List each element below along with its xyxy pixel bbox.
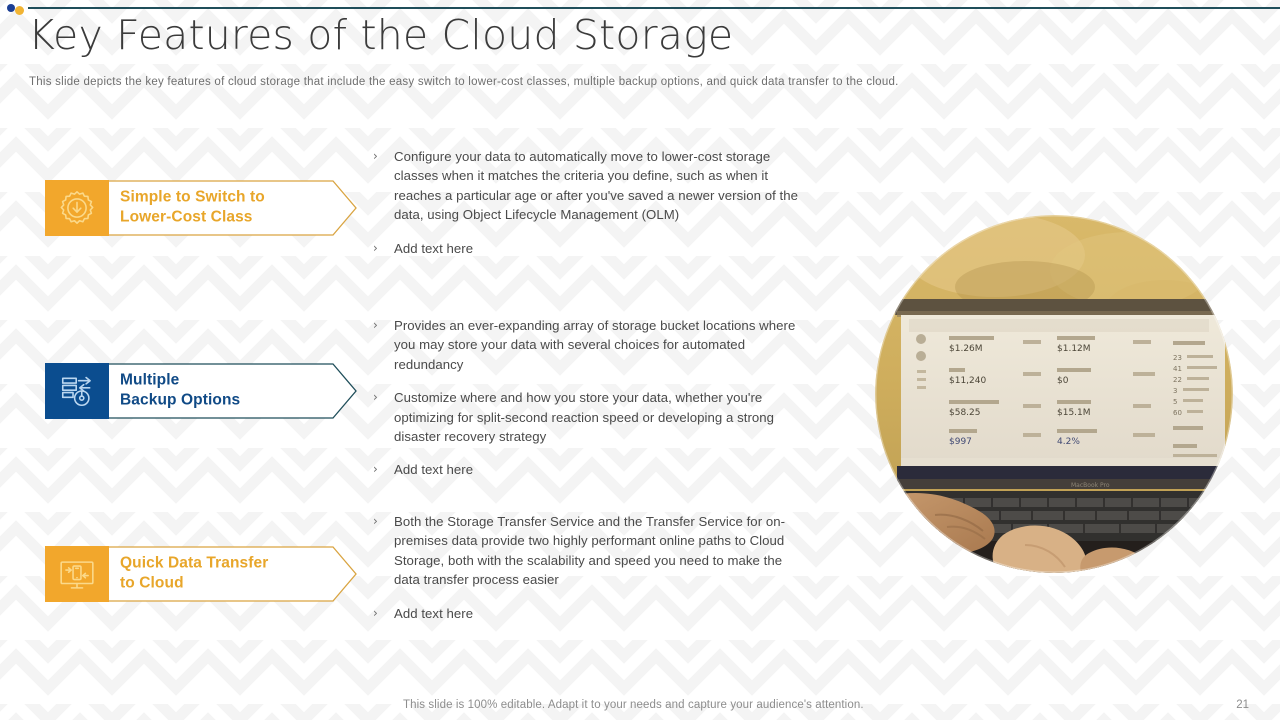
bullet-text[interactable]: Add text here bbox=[394, 239, 801, 258]
svg-text:60: 60 bbox=[1173, 409, 1182, 417]
svg-text:$1.12M: $1.12M bbox=[1057, 344, 1091, 354]
feature-badge-quick-data-transfer[interactable]: Quick Data Transfer to Cloud bbox=[45, 546, 357, 602]
feature-bullets-multiple-backup-options: › Provides an ever-expanding array of st… bbox=[373, 316, 801, 494]
svg-text:5: 5 bbox=[1173, 398, 1177, 406]
bullet-item: › Both the Storage Transfer Service and … bbox=[373, 512, 801, 590]
bullet-text: Configure your data to automatically mov… bbox=[394, 147, 801, 225]
feature-bullets-simple-to-switch: › Configure your data to automatically m… bbox=[373, 147, 801, 272]
bullet-text: Provides an ever-expanding array of stor… bbox=[394, 316, 801, 374]
footer-note: This slide is 100% editable. Adapt it to… bbox=[403, 699, 864, 711]
bullet-text[interactable]: Add text here bbox=[394, 460, 801, 479]
bullet-text: Customize where and how you store your d… bbox=[394, 388, 801, 446]
page-subtitle: This slide depicts the key features of c… bbox=[29, 76, 899, 88]
chevron-right-icon: › bbox=[373, 388, 394, 407]
feature-badge-simple-to-switch[interactable]: Simple to Switch to Lower-Cost Class bbox=[45, 180, 357, 236]
backup-disk-icon bbox=[45, 363, 109, 419]
bullet-item: › Add text here bbox=[373, 239, 801, 258]
chevron-right-icon: › bbox=[373, 316, 394, 335]
bullet-text[interactable]: Add text here bbox=[394, 604, 801, 623]
monitor-mobile-transfer-icon bbox=[45, 546, 109, 602]
svg-text:23: 23 bbox=[1173, 354, 1182, 362]
feature-badge-label: Quick Data Transfer to Cloud bbox=[120, 554, 268, 595]
bullet-text: Both the Storage Transfer Service and th… bbox=[394, 512, 801, 590]
chevron-right-icon: › bbox=[373, 460, 394, 479]
chevron-right-icon: › bbox=[373, 604, 394, 623]
bullet-item: › Add text here bbox=[373, 460, 801, 479]
svg-text:4.2%: 4.2% bbox=[1057, 437, 1080, 447]
feature-bullets-quick-data-transfer: › Both the Storage Transfer Service and … bbox=[373, 512, 801, 637]
bullet-item: › Provides an ever-expanding array of st… bbox=[373, 316, 801, 374]
hands-typing-laptop-dashboard-photo: $1.26M $11,240 $58.25 $997 $1.12M $0 bbox=[875, 215, 1233, 573]
photo-illustration: $1.26M $11,240 $58.25 $997 $1.12M $0 bbox=[875, 215, 1233, 573]
svg-text:$15.1M: $15.1M bbox=[1057, 408, 1091, 418]
svg-text:$58.25: $58.25 bbox=[949, 408, 981, 418]
bullet-item: › Customize where and how you store your… bbox=[373, 388, 801, 446]
page-number: 21 bbox=[1236, 699, 1249, 711]
feature-badge-label: Multiple Backup Options bbox=[120, 371, 240, 412]
svg-text:41: 41 bbox=[1173, 365, 1182, 373]
bullet-item: › Add text here bbox=[373, 604, 801, 623]
bullet-item: › Configure your data to automatically m… bbox=[373, 147, 801, 225]
svg-text:$1.26M: $1.26M bbox=[949, 344, 983, 354]
corner-dot-amber-icon bbox=[15, 6, 24, 15]
svg-text:MacBook Pro: MacBook Pro bbox=[1071, 482, 1110, 489]
chevron-right-icon: › bbox=[373, 512, 394, 531]
feature-badge-label: Simple to Switch to Lower-Cost Class bbox=[120, 188, 265, 229]
chevron-right-icon: › bbox=[373, 239, 394, 258]
feature-badge-multiple-backup-options[interactable]: Multiple Backup Options bbox=[45, 363, 357, 419]
svg-text:3: 3 bbox=[1173, 387, 1177, 395]
corner-dot-blue-icon bbox=[7, 4, 15, 12]
chevron-right-icon: › bbox=[373, 147, 394, 166]
header-rule bbox=[28, 7, 1280, 9]
svg-text:$11,240: $11,240 bbox=[949, 376, 986, 386]
page-title: Key Features of the Cloud Storage bbox=[28, 11, 733, 59]
svg-text:22: 22 bbox=[1173, 376, 1182, 384]
svg-text:$0: $0 bbox=[1057, 376, 1069, 386]
slide-canvas: Key Features of the Cloud Storage This s… bbox=[0, 0, 1280, 720]
gear-download-icon bbox=[45, 180, 109, 236]
svg-text:$997: $997 bbox=[949, 437, 972, 447]
